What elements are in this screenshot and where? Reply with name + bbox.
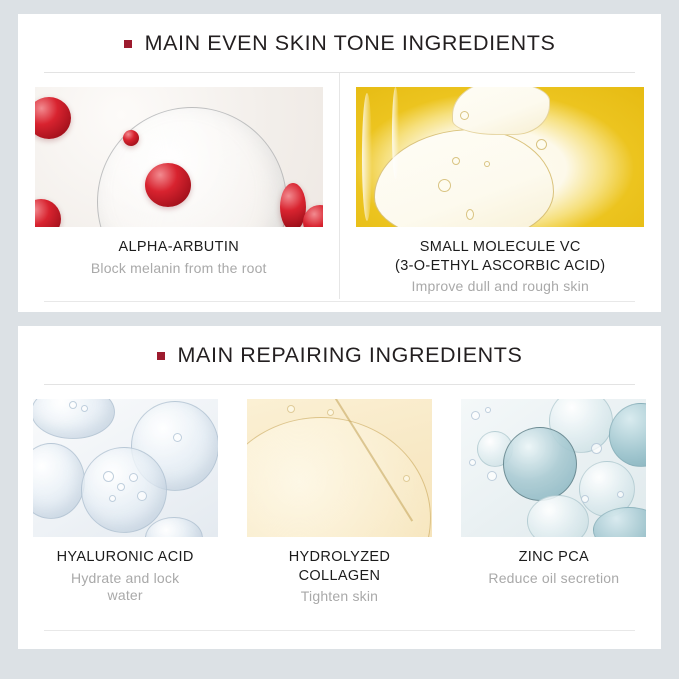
section-1-title-text: MAIN EVEN SKIN TONE INGREDIENTS	[145, 31, 556, 56]
section-2-spacer	[18, 618, 661, 630]
hydrolyzed-collagen-caption: HYDROLYZED COLLAGEN Tighten skin	[289, 548, 391, 606]
zinc-pca-name: ZINC PCA	[488, 548, 619, 567]
alpha-arbutin-description: Block melanin from the root	[91, 260, 267, 278]
zinc-pca-caption: ZINC PCA Reduce oil secretion	[488, 548, 619, 587]
hyaluronic-acid-description: Hydrate and lock water	[57, 570, 194, 606]
section-2-bottom-pad	[18, 631, 661, 649]
section-2-title: MAIN REPAIRING INGREDIENTS	[18, 326, 661, 384]
ingredient-alpha-arbutin: ALPHA-ARBUTIN Block melanin from the roo…	[18, 73, 340, 299]
section-2-columns: HYALURONIC ACID Hydrate and lock water H…	[18, 385, 661, 618]
ingredient-zinc-pca: ZINC PCA Reduce oil secretion	[447, 385, 661, 618]
cream-gel-photo	[247, 399, 432, 537]
teal-bubbles-photo	[461, 399, 646, 537]
ingredient-hydrolyzed-collagen: HYDROLYZED COLLAGEN Tighten skin	[232, 385, 446, 618]
section-1-title: MAIN EVEN SKIN TONE INGREDIENTS	[18, 14, 661, 72]
even-skin-tone-card: MAIN EVEN SKIN TONE INGREDIENTS ALPHA-AR…	[18, 14, 661, 312]
water-bubbles-photo	[33, 399, 218, 537]
small-molecule-vc-description: Improve dull and rough skin	[395, 278, 605, 296]
zinc-pca-description: Reduce oil secretion	[488, 570, 619, 588]
hydrolyzed-collagen-name: HYDROLYZED COLLAGEN	[289, 548, 391, 585]
alpha-arbutin-caption: ALPHA-ARBUTIN Block melanin from the roo…	[91, 238, 267, 277]
small-molecule-vc-caption: SMALL MOLECULE VC (3-O-ETHYL ASCORBIC AC…	[395, 238, 605, 296]
red-berries-photo	[35, 87, 323, 227]
ingredient-hyaluronic-acid: HYALURONIC ACID Hydrate and lock water	[18, 385, 232, 618]
repairing-ingredients-card: MAIN REPAIRING INGREDIENTS	[18, 326, 661, 649]
red-square-bullet-icon	[124, 40, 132, 48]
alpha-arbutin-name: ALPHA-ARBUTIN	[91, 238, 267, 257]
golden-oil-photo	[356, 87, 644, 227]
section-2-title-text: MAIN REPAIRING INGREDIENTS	[178, 343, 523, 368]
hyaluronic-acid-caption: HYALURONIC ACID Hydrate and lock water	[57, 548, 194, 605]
small-molecule-vc-name: SMALL MOLECULE VC (3-O-ETHYL ASCORBIC AC…	[395, 238, 605, 275]
ingredient-small-molecule-vc: SMALL MOLECULE VC (3-O-ETHYL ASCORBIC AC…	[340, 73, 662, 299]
section-1-bottom-pad	[18, 302, 661, 312]
hyaluronic-acid-name: HYALURONIC ACID	[57, 548, 194, 567]
section-1-columns: ALPHA-ARBUTIN Block melanin from the roo…	[18, 73, 661, 299]
hydrolyzed-collagen-description: Tighten skin	[289, 588, 391, 606]
red-square-bullet-icon	[157, 352, 165, 360]
infographic-page: MAIN EVEN SKIN TONE INGREDIENTS ALPHA-AR…	[0, 0, 679, 679]
